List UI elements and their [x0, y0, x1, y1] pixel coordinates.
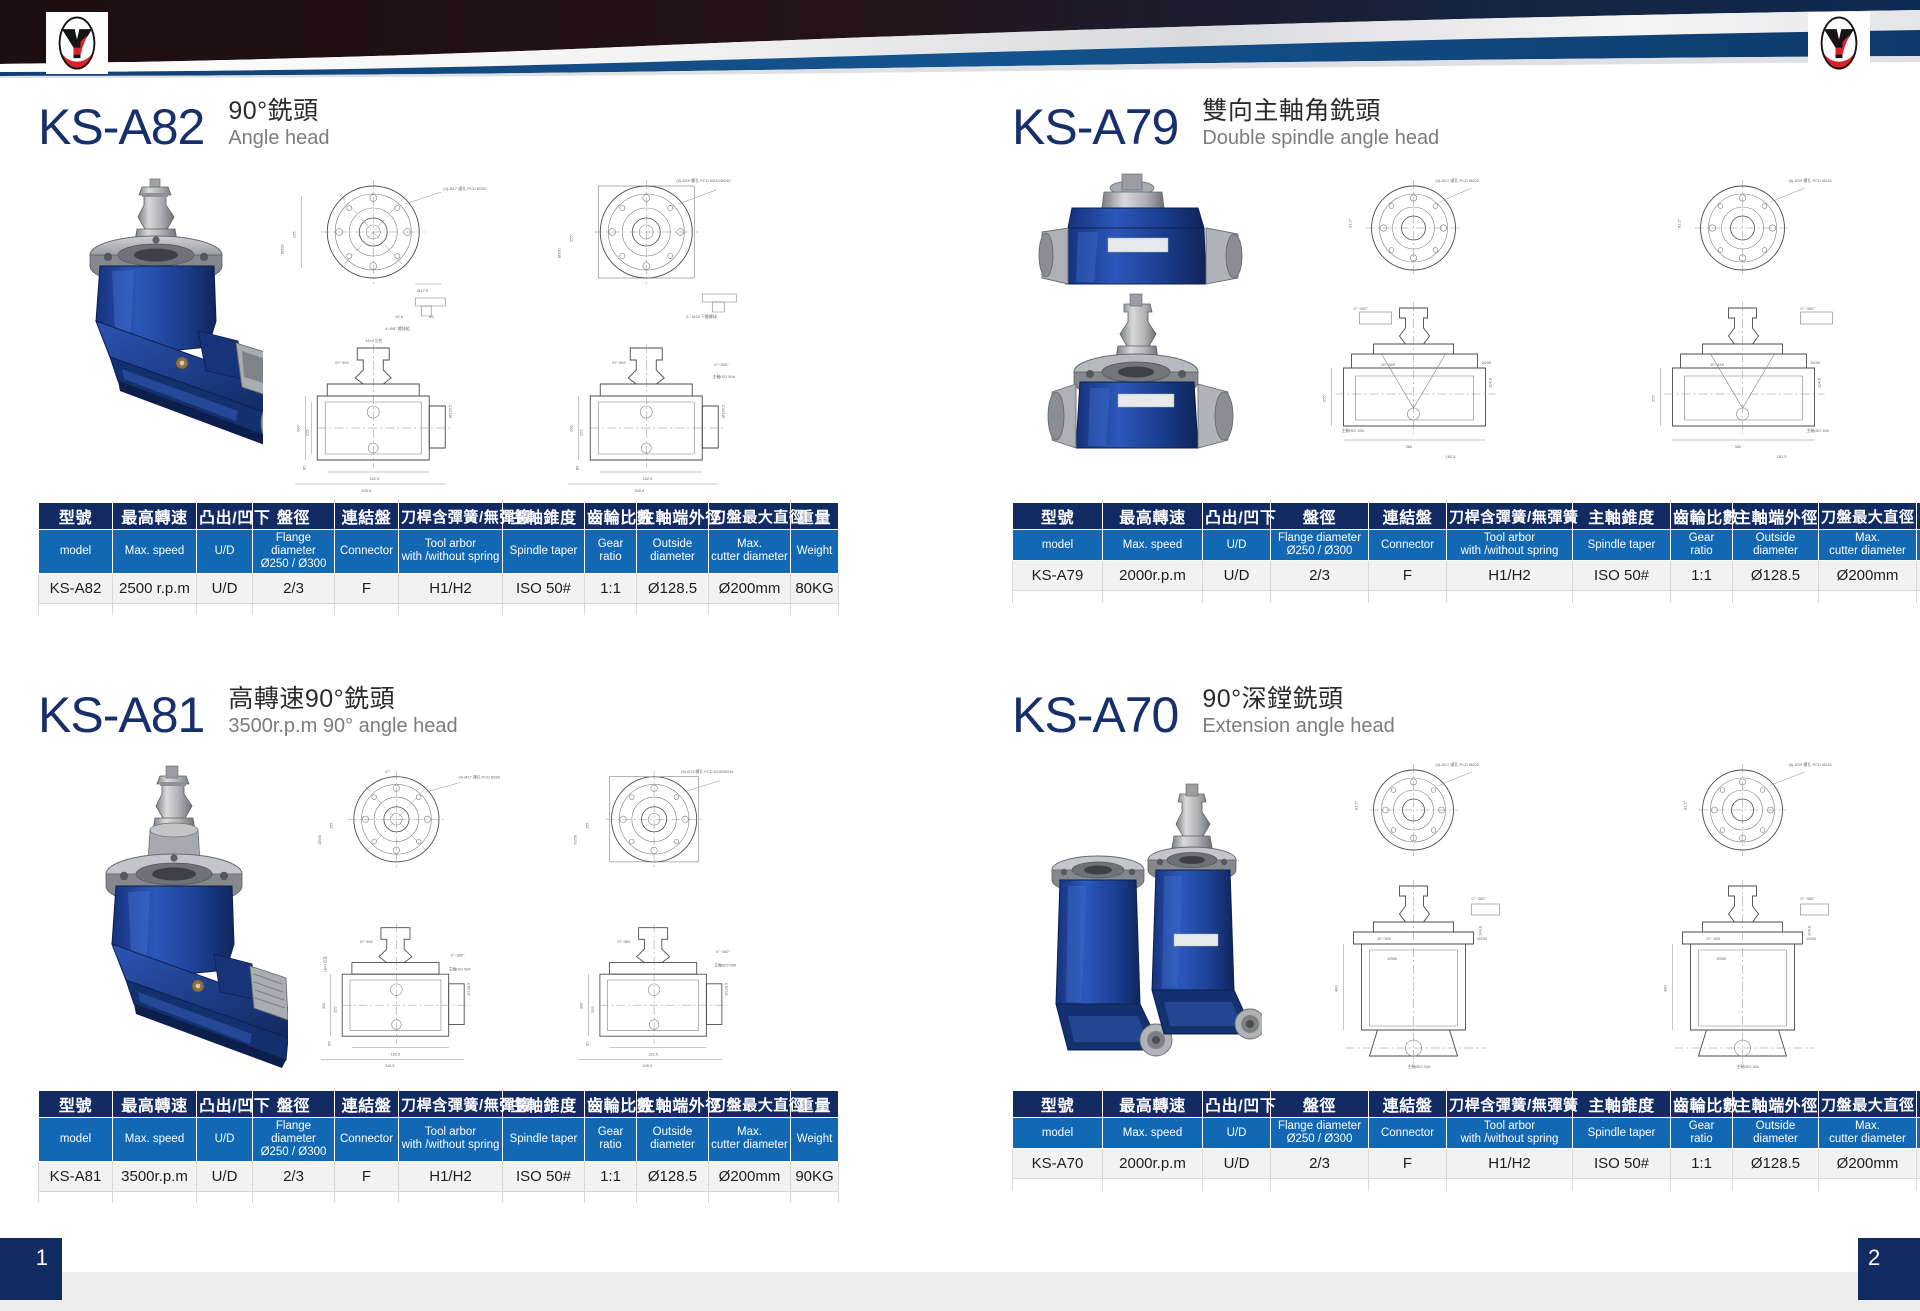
svg-text:345.5: 345.5 — [642, 1063, 652, 1068]
th-cn-10: 重量 — [791, 503, 839, 530]
th-en-2: U/D — [1203, 530, 1271, 561]
svg-text:345.5: 345.5 — [361, 488, 372, 493]
th-en-1: Max. speed — [113, 530, 197, 574]
drawing-note: 0°~360° — [716, 949, 730, 954]
th-en-4: Connector — [335, 530, 399, 574]
svg-text:97~369: 97~369 — [335, 360, 349, 365]
product-photo-ks-a82 — [38, 171, 263, 491]
product-photo-ks-a81 — [38, 754, 288, 1084]
footer-bar — [0, 1272, 1920, 1311]
th-en-7: Gearratio — [1671, 1118, 1733, 1149]
product-code: KS-A70 — [1012, 690, 1178, 740]
svg-text:104.8: 104.8 — [1817, 377, 1822, 388]
th-cn-3: 盤徑 — [1271, 1091, 1369, 1118]
th-cn-1: 最高轉速 — [113, 503, 197, 530]
svg-text:225: 225 — [578, 429, 583, 436]
technical-drawings-ks-a82: (4)-Ø17 通孔 PCD Ø200 255 Ø350 Ø17.5 10.8 … — [263, 166, 778, 496]
cell-outside-diameter: Ø128.5 — [1733, 1149, 1819, 1179]
product-code: KS-A82 — [38, 102, 204, 152]
svg-text:360: 360 — [1735, 444, 1742, 449]
table-header-en-row: model Max. speed U/D Flange diameterØ250… — [1013, 530, 1920, 561]
svg-text:255: 255 — [329, 823, 334, 829]
th-en-5: Tool arborwith /without spring — [1447, 530, 1573, 561]
drawing-note: 6 - M18 下壓螺絲 — [686, 313, 717, 319]
cell-outside-diameter: Ø128.5 — [637, 573, 709, 603]
cell-model: KS-A81 — [39, 1161, 113, 1191]
th-cn-1: 最高轉速 — [1103, 503, 1203, 530]
svg-text:16×4立柱: 16×4立柱 — [365, 337, 382, 343]
product-name-cn: 90°深鏜銑頭 — [1202, 685, 1394, 713]
product-title-ks-a82: KS-A82 90°銑頭 Angle head — [38, 90, 778, 152]
product-photo-ks-a70 — [1012, 754, 1262, 1084]
table-header-en-row: model Max. speed U/D Flange diameterØ250… — [39, 530, 839, 574]
svg-text:360: 360 — [1406, 444, 1413, 449]
th-en-9: Max.cutter diameter — [1819, 530, 1917, 561]
catalog-sheet: KS-A82 90°銑頭 Angle head — [0, 78, 1920, 1238]
table-header-cn-row: 型號 最高轉速 凸出/凹下 盤徑 連結盤 刀桿含彈簧/無彈簧 主軸錐度 齒輪比數… — [1013, 503, 1920, 530]
table-header-en-row: model Max. speed U/D Flange diameterØ250… — [39, 1118, 839, 1162]
th-en-6: Spindle taper — [1573, 1118, 1671, 1149]
th-cn-8: 主軸端外徑 — [1733, 503, 1819, 530]
th-cn-5: 刀桿含彈簧/無彈簧 — [1447, 1091, 1573, 1118]
product-name-en: Angle head — [228, 126, 329, 150]
product-code: KS-A81 — [38, 690, 204, 740]
cell-tool-arbor: H1/H2 — [1447, 1149, 1573, 1179]
th-en-2: U/D — [197, 530, 253, 574]
cell-model: KS-A79 — [1013, 561, 1103, 591]
drawing-front-view: (4)-Ø17 通孔 PCD Ø200 81.5° — [1262, 166, 1579, 496]
drawing-note: (6)-Ø19 螺孔 PCD Ø240/Ø245 — [681, 769, 733, 774]
th-cn-6: 主軸錐度 — [1573, 503, 1671, 530]
product-panel-ks-a79: KS-A79 雙向主軸角銑頭 Double spindle angle head — [1012, 90, 1902, 650]
svg-text:182.5: 182.5 — [648, 1051, 658, 1056]
drawing-front-view: (4)-Ø17 通孔 PCD Ø200 81.5° — [1262, 754, 1579, 1084]
th-cn-8: 主軸端外徑 — [637, 503, 709, 530]
spec-table-ks-a81: 型號 最高轉速 凸出/凹下 盤徑 連結盤 刀桿含彈簧/無彈簧 主軸錐度 齒輪比數… — [38, 1090, 839, 1203]
th-cn-4: 連結盤 — [335, 1091, 399, 1118]
cell-ud: U/D — [197, 573, 253, 603]
th-en-0: model — [1013, 1118, 1103, 1149]
cell-flange-diameter: 2/3 — [1271, 561, 1369, 591]
drawing-side-view: (6)-Ø19 螺孔 PCD Ø240 81.5° — [1585, 166, 1902, 496]
cell-gear-ratio: 1:1 — [585, 1161, 637, 1191]
cell-weight: 80KG — [791, 573, 839, 603]
th-cn-6: 主軸錐度 — [503, 503, 585, 530]
svg-text:Ø128.5: Ø128.5 — [724, 983, 729, 996]
cell-outside-diameter: Ø128.5 — [1733, 561, 1819, 591]
product-name-en: 3500r.p.m 90° angle head — [228, 714, 457, 738]
th-en-6: Spindle taper — [503, 530, 585, 574]
drawing-note: 主軸ISO 50# — [449, 966, 472, 971]
drawing-note: 0°~360° — [1801, 306, 1816, 311]
th-cn-9: 刀盤最大直徑 — [709, 503, 791, 530]
page-number-right-value: 2 — [1868, 1247, 1880, 1291]
th-cn-10: 重量 — [791, 1091, 839, 1118]
th-cn-9: 刀盤最大直徑 — [1819, 503, 1917, 530]
th-cn-1: 最高轉速 — [113, 1091, 197, 1118]
th-cn-0: 型號 — [1013, 503, 1103, 530]
th-cn-8: 主軸端外徑 — [1733, 1091, 1819, 1118]
svg-text:104.8: 104.8 — [1488, 377, 1493, 388]
table-row-spacer — [1013, 1179, 1920, 1191]
cell-outside-diameter: Ø128.5 — [637, 1161, 709, 1191]
cell-connector: F — [1369, 1149, 1447, 1179]
drawing-note: 0°~360° — [451, 953, 465, 958]
th-en-5: Tool arborwith /without spring — [399, 530, 503, 574]
illustration-band: (4)-Ø17 通孔 PCD Ø200 255 Ø350 Ø17.5 10.8 … — [38, 166, 778, 496]
svg-text:Ø200: Ø200 — [1482, 360, 1493, 365]
drawing-note: 主軸ISO 50# — [712, 373, 735, 379]
drawing-note: 0°~360° — [1354, 306, 1369, 311]
svg-text:182.5: 182.5 — [642, 476, 653, 481]
th-cn-10: 重量 — [1917, 1091, 1920, 1118]
svg-text:182.5: 182.5 — [369, 476, 380, 481]
svg-text:255: 255 — [584, 823, 589, 829]
cell-model: KS-A70 — [1013, 1149, 1103, 1179]
th-cn-7: 齒輪比數 — [1671, 1091, 1733, 1118]
th-cn-9: 刀盤最大直徑 — [1819, 1091, 1917, 1118]
company-logo-icon — [1810, 14, 1868, 72]
cell-flange-diameter: 2/3 — [253, 573, 335, 603]
product-panel-ks-a81: KS-A81 高轉速90°銑頭 3500r.p.m 90° angle head — [38, 678, 778, 1238]
cell-spindle-taper: ISO 50# — [1573, 561, 1671, 591]
th-cn-5: 刀桿含彈簧/無彈簧 — [399, 1091, 503, 1118]
svg-text:87~369: 87~369 — [1711, 362, 1725, 367]
cell-max-speed: 3500r.p.m — [113, 1161, 197, 1191]
cell-spindle-taper: ISO 50# — [503, 1161, 585, 1191]
th-cn-2: 凸出/凹下 — [1203, 503, 1271, 530]
svg-text:345.5: 345.5 — [385, 1063, 395, 1068]
product-panel-ks-a70: KS-A70 90°深鏜銑頭 Extension angle head — [1012, 678, 1902, 1238]
cell-tool-arbor: H1/H2 — [399, 1161, 503, 1191]
th-en-0: model — [39, 530, 113, 574]
svg-text:300: 300 — [568, 425, 573, 432]
svg-text:Ø17.5: Ø17.5 — [417, 288, 429, 293]
th-en-2: U/D — [197, 1118, 253, 1162]
svg-text:255: 255 — [568, 235, 573, 242]
cell-connector: F — [1369, 561, 1447, 591]
th-en-9: Max.cutter diameter — [709, 1118, 791, 1162]
drawing-note: 主軸ISO 50# — [714, 962, 737, 967]
th-en-1: Max. speed — [1103, 1118, 1203, 1149]
th-cn-5: 刀桿含彈簧/無彈簧 — [1447, 503, 1573, 530]
cell-ud: U/D — [1203, 561, 1271, 591]
th-cn-10: 重量 — [1917, 503, 1920, 530]
svg-text:Ø200: Ø200 — [1811, 360, 1822, 365]
th-en-5: Tool arborwith /without spring — [1447, 1118, 1573, 1149]
th-en-6: Spindle taper — [503, 1118, 585, 1162]
svg-text:255: 255 — [291, 231, 296, 238]
th-cn-4: 連結盤 — [335, 503, 399, 530]
th-en-10: Weight — [791, 1118, 839, 1162]
illustration-band: (4)-Ø17 通孔 PCD Ø200 81.5° — [1012, 754, 1902, 1084]
cell-weight: 90KG — [791, 1161, 839, 1191]
svg-text:225: 225 — [590, 1006, 595, 1012]
company-logo-left — [46, 12, 108, 74]
svg-text:Ø350: Ø350 — [1717, 956, 1728, 961]
svg-text:255: 255 — [1651, 395, 1656, 402]
cell-max-speed: 2000r.p.m — [1103, 1149, 1203, 1179]
svg-text:255: 255 — [1322, 395, 1327, 402]
th-en-3: Flange diameterØ250 / Ø300 — [253, 530, 335, 574]
th-cn-0: 型號 — [39, 1091, 113, 1118]
product-code: KS-A79 — [1012, 102, 1178, 152]
product-name-en: Double spindle angle head — [1202, 126, 1439, 150]
th-en-9: Max.cutter diameter — [709, 530, 791, 574]
page-banner — [0, 0, 1920, 78]
cell-gear-ratio: 1:1 — [1671, 1149, 1733, 1179]
th-cn-4: 連結盤 — [1369, 503, 1447, 530]
th-en-10: Weight — [791, 530, 839, 574]
cell-max-speed: 2500 r.p.m — [113, 573, 197, 603]
svg-text:300: 300 — [578, 1003, 583, 1009]
svg-text:480: 480 — [1334, 985, 1339, 992]
cell-tool-arbor: H1/H2 — [399, 573, 503, 603]
product-panel-ks-a82: KS-A82 90°銑頭 Angle head — [38, 90, 778, 650]
th-en-0: model — [39, 1118, 113, 1162]
th-en-0: model — [1013, 530, 1103, 561]
th-cn-0: 型號 — [39, 503, 113, 530]
svg-text:81.5°: 81.5° — [1354, 800, 1359, 810]
svg-text:47°: 47° — [385, 769, 391, 774]
table-row-spacer — [1013, 591, 1920, 603]
th-en-6: Spindle taper — [1573, 530, 1671, 561]
th-en-1: Max. speed — [113, 1118, 197, 1162]
th-cn-5: 刀桿含彈簧/無彈簧 — [399, 503, 503, 530]
svg-text:Ø350: Ø350 — [573, 835, 578, 844]
svg-text:Ø128.5: Ø128.5 — [720, 404, 725, 418]
svg-text:Ø350: Ø350 — [556, 247, 561, 258]
drawing-note: (4)-Ø17 通孔 PCD Ø200 — [458, 775, 500, 780]
svg-text:Ø350: Ø350 — [317, 835, 322, 844]
th-cn-6: 主軸錐度 — [1573, 1091, 1671, 1118]
th-en-8: Outsidediameter — [1733, 1118, 1819, 1149]
th-en-4: Connector — [335, 1118, 399, 1162]
svg-text:85: 85 — [327, 1042, 332, 1046]
svg-text:Ø350: Ø350 — [1388, 956, 1399, 961]
drawing-front-view: (4)-Ø17 通孔 PCD Ø200 255 Ø350 Ø17.5 10.8 … — [263, 166, 518, 496]
table-row: KS-A82 2500 r.p.m U/D 2/3 F H1/H2 ISO 50… — [39, 573, 839, 603]
drawing-front-view: (4)-Ø17 通孔 PCD Ø200 47° 255 Ø350 — [288, 754, 530, 1084]
svg-text:85: 85 — [574, 465, 579, 470]
cell-connector: F — [335, 573, 399, 603]
cell-max-cutter-diameter: Ø200mm — [1819, 1149, 1917, 1179]
cell-max-cutter-diameter: Ø200mm — [709, 1161, 791, 1191]
th-en-4: Connector — [1369, 1118, 1447, 1149]
th-en-2: U/D — [1203, 1118, 1271, 1149]
drawing-note: 4~5/8" 螺絲組 — [385, 325, 410, 331]
company-logo-icon — [48, 14, 106, 72]
product-name-cn: 雙向主軸角銑頭 — [1202, 97, 1439, 125]
table-header-cn-row: 型號 最高轉速 凸出/凹下 盤徑 連結盤 刀桿含彈簧/無彈簧 主軸錐度 齒輪比數… — [39, 1091, 839, 1118]
page-number-left: 1 — [0, 1238, 62, 1300]
th-cn-2: 凸出/凹下 — [1203, 1091, 1271, 1118]
product-title-ks-a70: KS-A70 90°深鏜銑頭 Extension angle head — [1012, 678, 1902, 740]
svg-text:87~369: 87~369 — [1378, 936, 1392, 941]
drawing-side-view: (6)-Ø19 螺孔 PCD Ø240/Ø245 255 Ø350 — [536, 754, 778, 1084]
svg-text:Ø350: Ø350 — [279, 243, 284, 254]
svg-text:81.5°: 81.5° — [1683, 800, 1688, 810]
drawing-note: 主軸ISO 50# — [1807, 427, 1830, 433]
drawing-note: 0°~360° — [714, 362, 729, 367]
cell-weight: 100KG — [1917, 561, 1920, 591]
svg-text:104.8: 104.8 — [1478, 925, 1483, 936]
cell-gear-ratio: 1:1 — [585, 573, 637, 603]
svg-text:480: 480 — [1663, 985, 1668, 992]
svg-text:87~369: 87~369 — [1707, 936, 1721, 941]
th-cn-7: 齒輪比數 — [1671, 503, 1733, 530]
th-cn-1: 最高轉速 — [1103, 1091, 1203, 1118]
technical-drawings-ks-a79: (4)-Ø17 通孔 PCD Ø200 81.5° — [1262, 166, 1902, 496]
drawing-note: 0°~360° — [1801, 896, 1816, 901]
drawing-note: (6)-Ø19 螺孔 PCD Ø240 — [1789, 761, 1833, 767]
illustration-band: (4)-Ø17 通孔 PCD Ø200 47° 255 Ø350 — [38, 754, 778, 1084]
cell-flange-diameter: 2/3 — [1271, 1149, 1369, 1179]
company-logo-right — [1808, 12, 1870, 74]
th-cn-4: 連結盤 — [1369, 1091, 1447, 1118]
drawing-side-view: (6)-Ø19 螺孔 PCD Ø240 81.5° — [1585, 754, 1902, 1084]
cell-max-cutter-diameter: Ø200mm — [1819, 561, 1917, 591]
cell-spindle-taper: ISO 50# — [503, 573, 585, 603]
drawing-note: (6)-Ø19 螺孔 PCD Ø240 — [1789, 177, 1833, 183]
svg-text:300: 300 — [321, 1003, 326, 1009]
banner-graphic — [0, 0, 1920, 78]
drawing-note: (6)-Ø19 螺孔 PCD Ø240/Ø245 — [676, 177, 731, 183]
cell-max-speed: 2000r.p.m — [1103, 561, 1203, 591]
table-row-spacer — [39, 603, 839, 615]
svg-text:182.5: 182.5 — [1446, 454, 1457, 459]
table-header-cn-row: 型號 最高轉速 凸出/凹下 盤徑 連結盤 刀桿含彈簧/無彈簧 主軸錐度 齒輪比數… — [39, 503, 839, 530]
cell-tool-arbor: H1/H2 — [1447, 561, 1573, 591]
drawing-note: (4)-Ø17 通孔 PCD Ø200 — [1436, 761, 1480, 767]
product-title-ks-a81: KS-A81 高轉速90°銑頭 3500r.p.m 90° angle head — [38, 678, 778, 740]
table-row-spacer — [39, 1191, 839, 1203]
svg-text:81.5°: 81.5° — [1677, 218, 1682, 228]
svg-text:182.5: 182.5 — [1777, 454, 1788, 459]
table-header-en-row: model Max. speed U/D Flange diameterØ250… — [1013, 1118, 1920, 1149]
svg-text:104.8: 104.8 — [1807, 925, 1812, 936]
cell-connector: F — [335, 1161, 399, 1191]
technical-drawings-ks-a81: (4)-Ø17 通孔 PCD Ø200 47° 255 Ø350 — [288, 754, 778, 1084]
drawing-note: (4)-Ø17 通孔 PCD Ø200 — [443, 185, 487, 191]
svg-text:225: 225 — [332, 1006, 337, 1012]
cell-weight: 105KG — [1917, 1149, 1920, 1179]
svg-text:Ø128.5: Ø128.5 — [447, 404, 452, 418]
table-row: KS-A79 2000r.p.m U/D 2/3 F H1/H2 ISO 50#… — [1013, 561, 1920, 591]
drawing-side-view: (6)-Ø19 螺孔 PCD Ø240/Ø245 255 Ø350 6 - M1… — [524, 166, 779, 496]
th-cn-0: 型號 — [1013, 1091, 1103, 1118]
cell-max-cutter-diameter: Ø200mm — [709, 573, 791, 603]
th-en-10: Weight — [1917, 530, 1920, 561]
drawing-note: 主軸ISO 50# — [1737, 1063, 1760, 1069]
th-en-4: Connector — [1369, 530, 1447, 561]
cell-spindle-taper: ISO 50# — [1573, 1149, 1671, 1179]
th-en-7: Gearratio — [585, 530, 637, 574]
spec-table-ks-a79: 型號 最高轉速 凸出/凹下 盤徑 連結盤 刀桿含彈簧/無彈簧 主軸錐度 齒輪比數… — [1012, 502, 1920, 603]
svg-text:225: 225 — [304, 429, 309, 436]
table-row: KS-A81 3500r.p.m U/D 2/3 F H1/H2 ISO 50#… — [39, 1161, 839, 1191]
drawing-note: (4)-Ø17 通孔 PCD Ø200 — [1436, 177, 1480, 183]
th-cn-8: 主軸端外徑 — [637, 1091, 709, 1118]
cell-gear-ratio: 1:1 — [1671, 561, 1733, 591]
th-en-7: Gearratio — [1671, 530, 1733, 561]
th-cn-6: 主軸錐度 — [503, 1091, 585, 1118]
th-cn-7: 齒輪比數 — [585, 503, 637, 530]
cell-ud: U/D — [197, 1161, 253, 1191]
th-en-3: Flange diameterØ250 / Ø300 — [1271, 1118, 1369, 1149]
svg-text:97~369: 97~369 — [617, 939, 630, 944]
drawing-note: 主軸ISO 50# — [1408, 1063, 1431, 1069]
cell-ud: U/D — [1203, 1149, 1271, 1179]
th-cn-9: 刀盤最大直徑 — [709, 1091, 791, 1118]
spec-table-ks-a82: 型號 最高轉速 凸出/凹下 盤徑 連結盤 刀桿含彈簧/無彈簧 主軸錐度 齒輪比數… — [38, 502, 839, 615]
drawing-note: 0°~360° — [1472, 896, 1487, 901]
svg-text:85: 85 — [301, 465, 306, 470]
th-en-8: Outsidediameter — [637, 530, 709, 574]
spec-table-ks-a70: 型號 最高轉速 凸出/凹下 盤徑 連結盤 刀桿含彈簧/無彈簧 主軸錐度 齒輪比數… — [1012, 1090, 1920, 1191]
svg-text:87~369: 87~369 — [1382, 362, 1396, 367]
svg-text:81.5°: 81.5° — [1348, 218, 1353, 228]
th-cn-2: 凸出/凹下 — [197, 503, 253, 530]
svg-text:85: 85 — [584, 1042, 589, 1046]
th-en-1: Max. speed — [1103, 530, 1203, 561]
page-number-left-value: 1 — [36, 1247, 48, 1291]
th-en-3: Flange diameterØ250 / Ø300 — [1271, 530, 1369, 561]
product-title-ks-a79: KS-A79 雙向主軸角銑頭 Double spindle angle head — [1012, 90, 1902, 152]
drawing-note: 主軸ISO 50# — [1342, 427, 1365, 433]
product-name-cn: 90°銑頭 — [228, 97, 329, 125]
th-en-3: Flange diameterØ250 / Ø300 — [253, 1118, 335, 1162]
illustration-band: (4)-Ø17 通孔 PCD Ø200 81.5° — [1012, 166, 1902, 496]
th-en-9: Max.cutter diameter — [1819, 1118, 1917, 1149]
product-name-cn: 高轉速90°銑頭 — [228, 685, 457, 713]
th-en-5: Tool arborwith /without spring — [399, 1118, 503, 1162]
page-footer: 1 2 — [0, 1238, 1920, 1311]
table-row: KS-A70 2000r.p.m U/D 2/3 F H1/H2 ISO 50#… — [1013, 1149, 1920, 1179]
th-en-8: Outsidediameter — [1733, 530, 1819, 561]
product-name-en: Extension angle head — [1202, 714, 1394, 738]
cell-model: KS-A82 — [39, 573, 113, 603]
svg-text:300: 300 — [295, 425, 300, 432]
svg-text:16×4立柱: 16×4立柱 — [323, 956, 328, 973]
technical-drawings-ks-a70: (4)-Ø17 通孔 PCD Ø200 81.5° — [1262, 754, 1902, 1084]
svg-text:97~369: 97~369 — [612, 360, 626, 365]
svg-text:Ø128.5: Ø128.5 — [466, 983, 471, 996]
product-photo-ks-a79 — [1012, 166, 1262, 496]
th-cn-3: 盤徑 — [1271, 503, 1369, 530]
th-cn-2: 凸出/凹下 — [197, 1091, 253, 1118]
svg-text:97~369: 97~369 — [360, 939, 373, 944]
svg-text:345.5: 345.5 — [634, 488, 645, 493]
table-header-cn-row: 型號 最高轉速 凸出/凹下 盤徑 連結盤 刀桿含彈簧/無彈簧 主軸錐度 齒輪比數… — [1013, 1091, 1920, 1118]
th-en-10: Weight — [1917, 1118, 1920, 1149]
th-en-8: Outsidediameter — [637, 1118, 709, 1162]
cell-flange-diameter: 2/3 — [253, 1161, 335, 1191]
th-cn-7: 齒輪比數 — [585, 1091, 637, 1118]
th-en-7: Gearratio — [585, 1118, 637, 1162]
svg-text:46: 46 — [429, 314, 434, 319]
svg-text:10.8: 10.8 — [395, 314, 404, 319]
svg-text:182.5: 182.5 — [391, 1051, 401, 1056]
page-number-right: 2 — [1858, 1238, 1920, 1300]
